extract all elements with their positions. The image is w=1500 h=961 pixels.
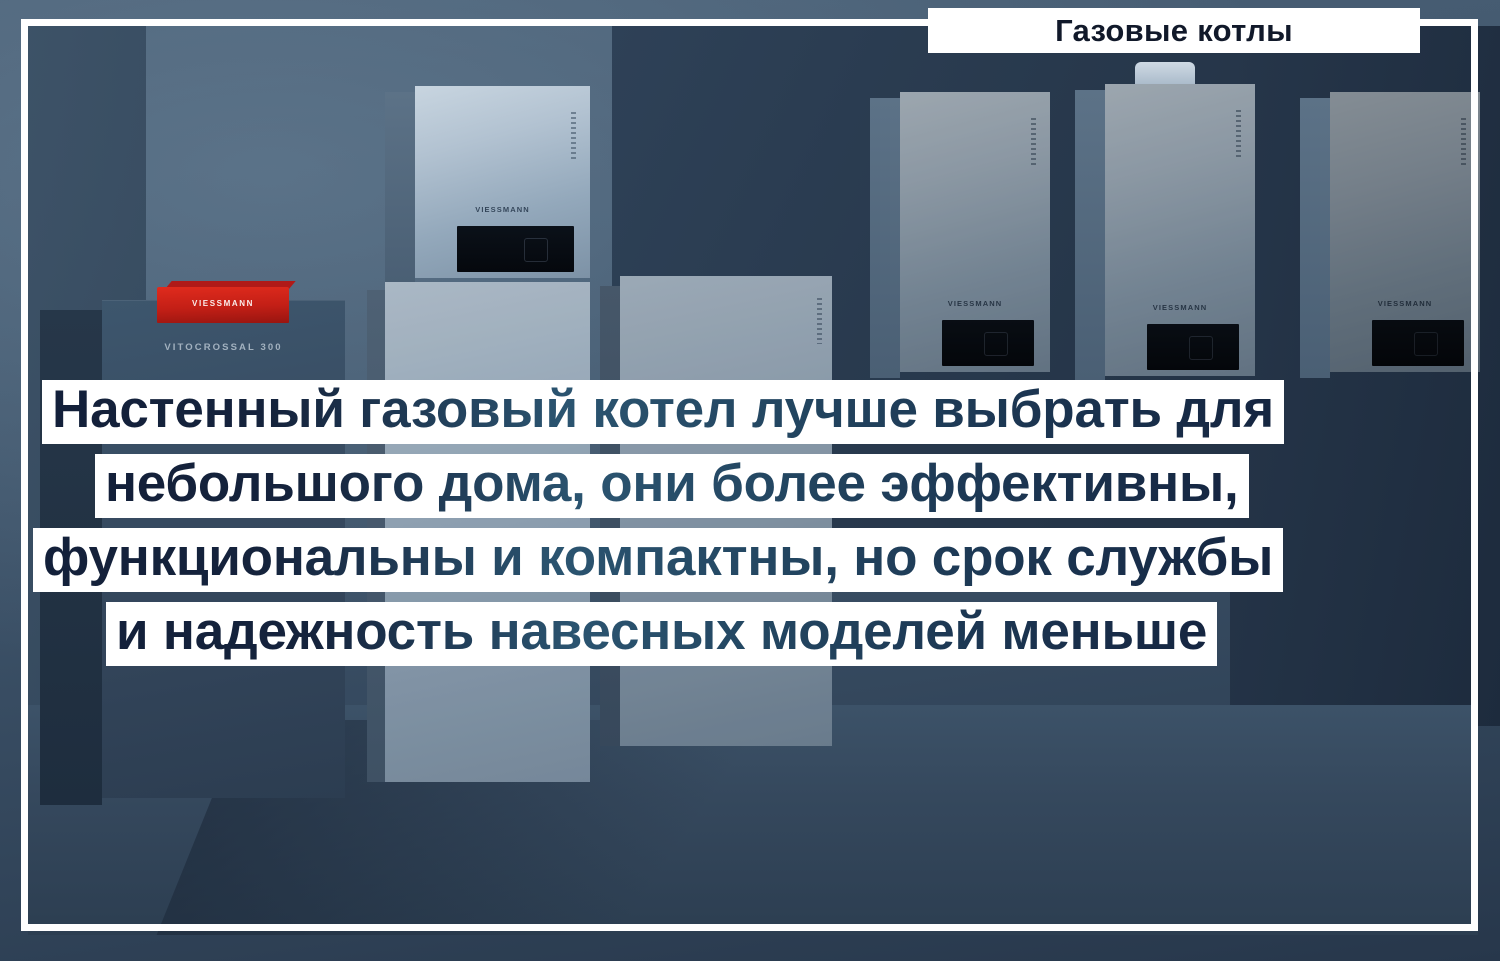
- vent-slots-icon: [571, 112, 576, 162]
- headline-line-4: и надежность навесных моделей меньше: [106, 602, 1217, 666]
- boiler-front-panel: VIESSMANN: [415, 86, 590, 278]
- wall-boiler-right-2: VIESSMANN: [1075, 84, 1255, 376]
- page-title: Газовые котлы: [1055, 13, 1293, 49]
- viessmann-logo: VIESSMANN: [1105, 303, 1255, 312]
- viessmann-logo: VIESSMANN: [900, 299, 1050, 308]
- wall-boiler-center: VIESSMANN: [385, 86, 590, 278]
- viessmann-logo: VIESSMANN: [157, 299, 289, 308]
- boiler-front-panel: VIESSMANN: [1330, 92, 1480, 372]
- boiler-control-panel: [942, 320, 1034, 366]
- boiler-side-panel: [1075, 90, 1105, 382]
- headline-line-1: Настенный газовый котел лучше выбрать дл…: [42, 380, 1284, 444]
- wall-boiler-right-1: VIESSMANN: [870, 92, 1050, 372]
- headline-line-2-text: небольшого дома, они более эффективны,: [105, 454, 1239, 513]
- boiler-front-panel: VIESSMANN: [1105, 84, 1255, 376]
- boiler-model-label: VITOCROSSAL 300: [102, 342, 345, 353]
- headline-line-3-text: функциональны и компактны, но срок служб…: [43, 528, 1273, 587]
- wall-boiler-right-3: VIESSMANN: [1300, 92, 1480, 372]
- viessmann-control-box: VIESSMANN: [157, 281, 289, 323]
- control-box-face: VIESSMANN: [157, 287, 289, 323]
- boiler-side-panel: [870, 98, 900, 378]
- vent-slots-icon: [1461, 118, 1466, 168]
- viessmann-logo: VIESSMANN: [1330, 299, 1480, 308]
- boiler-side-panel: [1300, 98, 1330, 378]
- headline-block: Настенный газовый котел лучше выбрать дл…: [0, 380, 1500, 676]
- viessmann-logo: VIESSMANN: [415, 205, 590, 214]
- boiler-control-panel: [1372, 320, 1464, 366]
- headline-line-2: небольшого дома, они более эффективны,: [95, 454, 1249, 518]
- vent-slots-icon: [1031, 118, 1036, 168]
- flue-pipe: [1135, 62, 1195, 86]
- banner-canvas: VIESSMANN VITOCROSSAL 300 VIESSMANN: [0, 0, 1500, 961]
- headline-line-3: функциональны и компактны, но срок служб…: [33, 528, 1283, 592]
- vent-slots-icon: [817, 298, 822, 344]
- boiler-control-panel: [1147, 324, 1239, 370]
- boiler-front-panel: VIESSMANN: [900, 92, 1050, 372]
- boiler-control-panel: [457, 226, 574, 272]
- vent-slots-icon: [1236, 110, 1241, 160]
- title-chip: Газовые котлы: [928, 8, 1420, 53]
- headline-line-1-text: Настенный газовый котел лучше выбрать дл…: [52, 380, 1274, 439]
- headline-line-4-text: и надежность навесных моделей меньше: [116, 602, 1207, 661]
- boiler-side-panel: [385, 92, 415, 284]
